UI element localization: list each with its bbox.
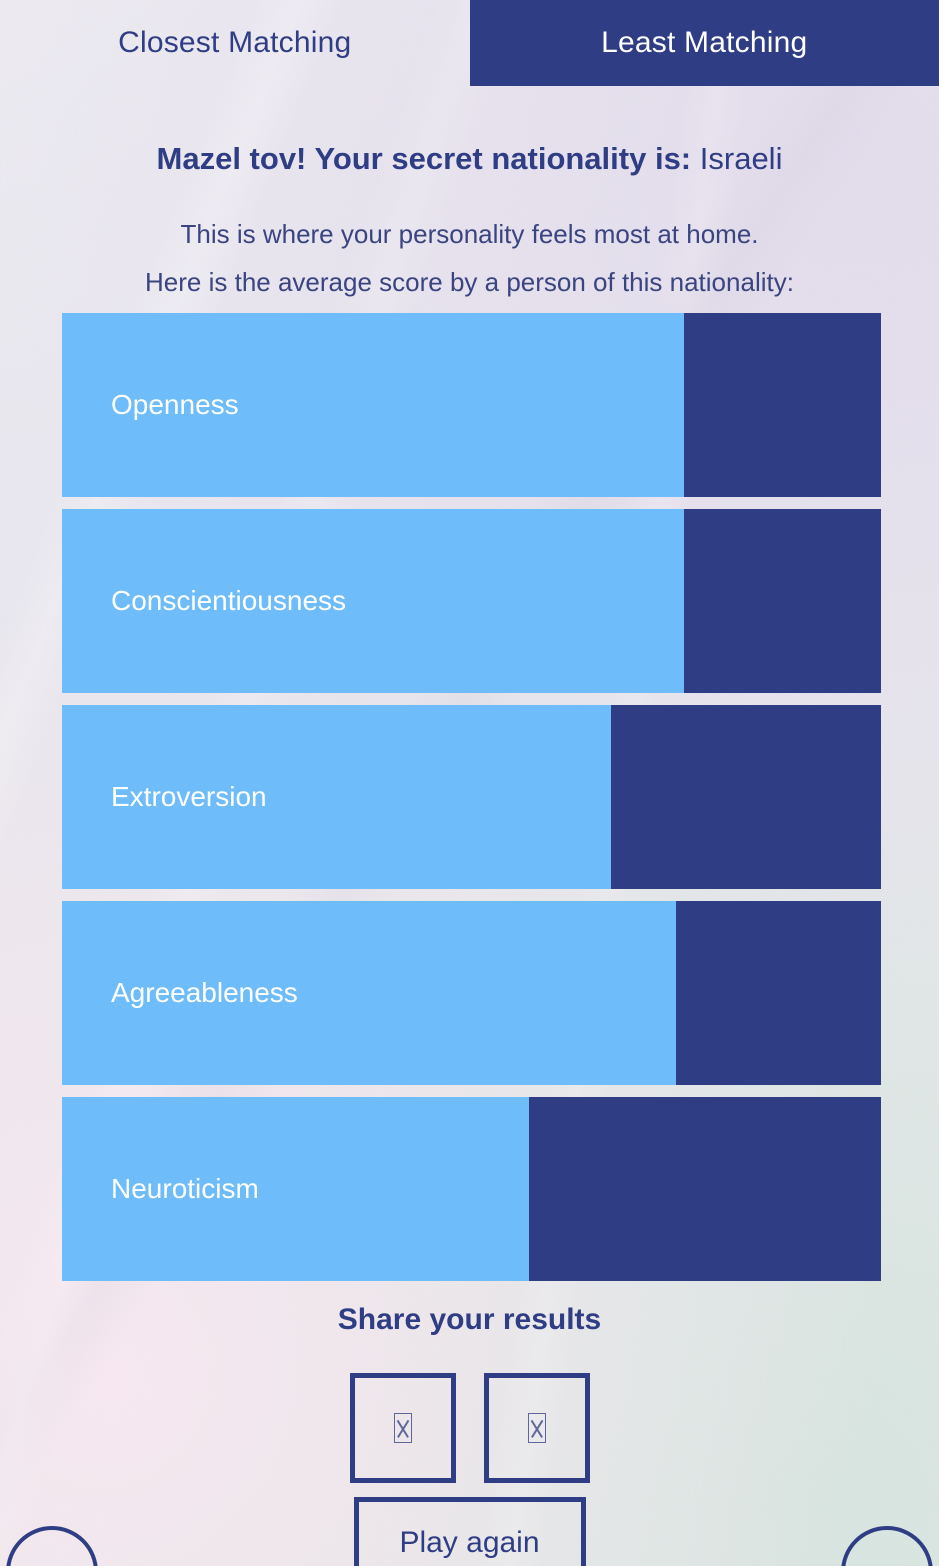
missing-glyph-icon <box>394 1413 412 1443</box>
nav-prev-button[interactable] <box>6 1526 98 1566</box>
trait-bar-label: Extroversion <box>111 781 267 813</box>
nav-next-button[interactable] <box>841 1526 933 1566</box>
share-button-1[interactable] <box>350 1373 456 1483</box>
share-results-heading: Share your results <box>0 1303 939 1337</box>
trait-bar-row: Agreeableness <box>62 901 881 1085</box>
subtitle-line-1: This is where your personality feels mos… <box>0 210 939 258</box>
missing-glyph-icon <box>528 1413 546 1443</box>
tab-closest-matching-label: Closest Matching <box>118 26 351 60</box>
trait-bar-row: Neuroticism <box>62 1097 881 1281</box>
trait-bar-row: Openness <box>62 313 881 497</box>
share-button-2[interactable] <box>484 1373 590 1483</box>
play-again-button[interactable]: Play again <box>354 1497 586 1566</box>
tab-bar: Closest Matching Least Matching <box>0 0 939 86</box>
trait-bar-label: Conscientiousness <box>111 585 346 617</box>
trait-bar-chart: Openness Conscientiousness Extroversion … <box>62 313 881 1293</box>
result-subtitle: This is where your personality feels mos… <box>0 210 939 306</box>
trait-bar-row: Conscientiousness <box>62 509 881 693</box>
trait-bar-row: Extroversion <box>62 705 881 889</box>
tab-closest-matching[interactable]: Closest Matching <box>0 0 470 86</box>
result-title-lead: Mazel tov! Your secret nationality is: <box>157 141 692 176</box>
trait-bar-label: Agreeableness <box>111 977 298 1009</box>
tab-least-matching-label: Least Matching <box>601 26 807 60</box>
result-nationality: Israeli <box>700 141 783 176</box>
subtitle-line-2: Here is the average score by a person of… <box>0 258 939 306</box>
share-button-group <box>0 1373 939 1483</box>
trait-bar-label: Openness <box>111 389 239 421</box>
page-title: Mazel tov! Your secret nationality is: I… <box>0 141 939 177</box>
tab-least-matching[interactable]: Least Matching <box>470 0 939 86</box>
trait-bar-label: Neuroticism <box>111 1173 259 1205</box>
